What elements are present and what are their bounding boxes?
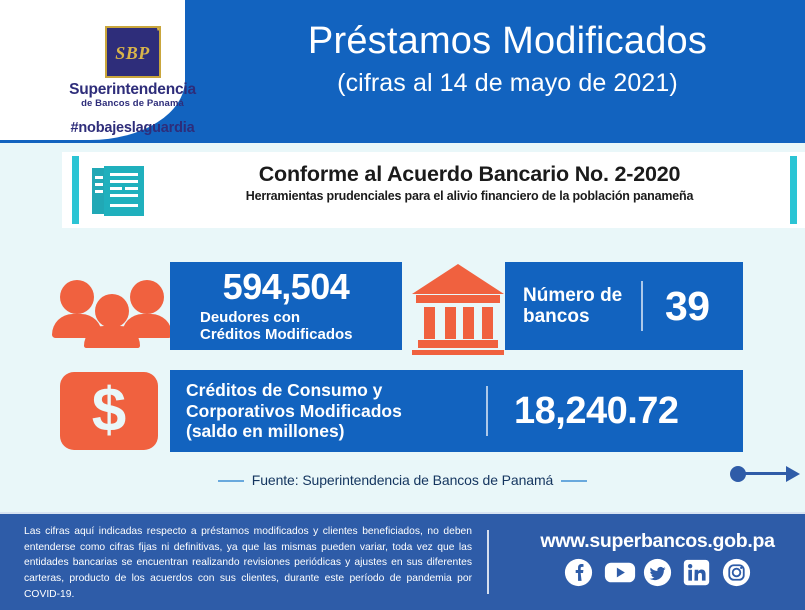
banner-right-accent-bar bbox=[790, 156, 797, 224]
people-group-icon bbox=[52, 272, 172, 344]
instagram-icon[interactable] bbox=[722, 558, 751, 587]
page-subtitle: (cifras al 14 de mayo de 2021) bbox=[225, 69, 790, 98]
logo-line-1: Superintendencia bbox=[40, 81, 225, 99]
facebook-icon[interactable] bbox=[564, 558, 593, 587]
logo-line-2: de Bancos de Panamá bbox=[40, 98, 225, 109]
linkedin-icon[interactable] bbox=[682, 558, 711, 587]
banner-left-accent-bar bbox=[72, 156, 79, 224]
debtors-label-line2: Créditos Modificados bbox=[200, 326, 353, 343]
twitter-icon[interactable] bbox=[643, 558, 672, 587]
disclaimer-text: Las cifras aquí indicadas respecto a pré… bbox=[24, 524, 472, 602]
document-icon bbox=[92, 166, 148, 216]
social-links bbox=[520, 558, 795, 587]
credits-value: 18,240.72 bbox=[488, 390, 679, 433]
campaign-hashtag: #nobajeslaguardia bbox=[40, 120, 225, 136]
banner-text: Conforme al Acuerdo Bancario No. 2-2020 … bbox=[157, 162, 782, 203]
arrow-right-icon bbox=[730, 465, 800, 483]
debtors-value: 594,504 bbox=[170, 268, 402, 307]
sbp-logo-text: SBP bbox=[107, 43, 159, 64]
footer: Las cifras aquí indicadas respecto a pré… bbox=[0, 512, 805, 610]
source-dash-left bbox=[218, 480, 244, 482]
card-banks: Número de bancos 39 bbox=[505, 262, 743, 350]
website-url[interactable]: www.superbancos.gob.pa bbox=[520, 530, 795, 553]
debtors-label-line1: Deudores con bbox=[200, 309, 300, 326]
infographic-page: SBP Superintendencia de Bancos de Panamá… bbox=[0, 0, 805, 610]
youtube-icon[interactable] bbox=[604, 558, 633, 587]
card-credits: Créditos de Consumo y Corporativos Modif… bbox=[170, 370, 743, 452]
footer-divider bbox=[487, 530, 489, 594]
agreement-banner: Conforme al Acuerdo Bancario No. 2-2020 … bbox=[62, 152, 805, 228]
banner-title: Conforme al Acuerdo Bancario No. 2-2020 bbox=[157, 162, 782, 187]
banner-subtitle: Herramientas prudenciales para el alivio… bbox=[157, 189, 782, 203]
sbp-logo: SBP Superintendencia de Bancos de Panamá… bbox=[40, 20, 225, 160]
banks-label-line1: Número de bbox=[523, 285, 622, 306]
card-debtors: 594,504 Deudores con Créditos Modificado… bbox=[170, 262, 402, 350]
sbp-logo-mark: SBP bbox=[105, 26, 161, 78]
banks-label-line2: bancos bbox=[523, 306, 590, 327]
header-banner: SBP Superintendencia de Bancos de Panamá… bbox=[0, 0, 805, 143]
source-dash-right bbox=[561, 480, 587, 482]
source-line: Fuente: Superintendencia de Bancos de Pa… bbox=[0, 472, 805, 490]
source-text: Fuente: Superintendencia de Bancos de Pa… bbox=[252, 472, 553, 488]
credits-label-line2: Corporativos Modificados bbox=[186, 401, 402, 421]
page-title: Préstamos Modificados bbox=[225, 22, 790, 62]
footer-top-rule bbox=[0, 512, 805, 514]
dollar-icon: $ bbox=[60, 372, 158, 450]
credits-label-line1: Créditos de Consumo y bbox=[186, 380, 382, 400]
banks-value: 39 bbox=[643, 283, 710, 330]
dollar-glyph: $ bbox=[60, 376, 158, 445]
title-block: Préstamos Modificados (cifras al 14 de m… bbox=[225, 22, 790, 98]
credits-label-line3: (saldo en millones) bbox=[186, 421, 345, 441]
bank-building-icon bbox=[412, 262, 504, 350]
